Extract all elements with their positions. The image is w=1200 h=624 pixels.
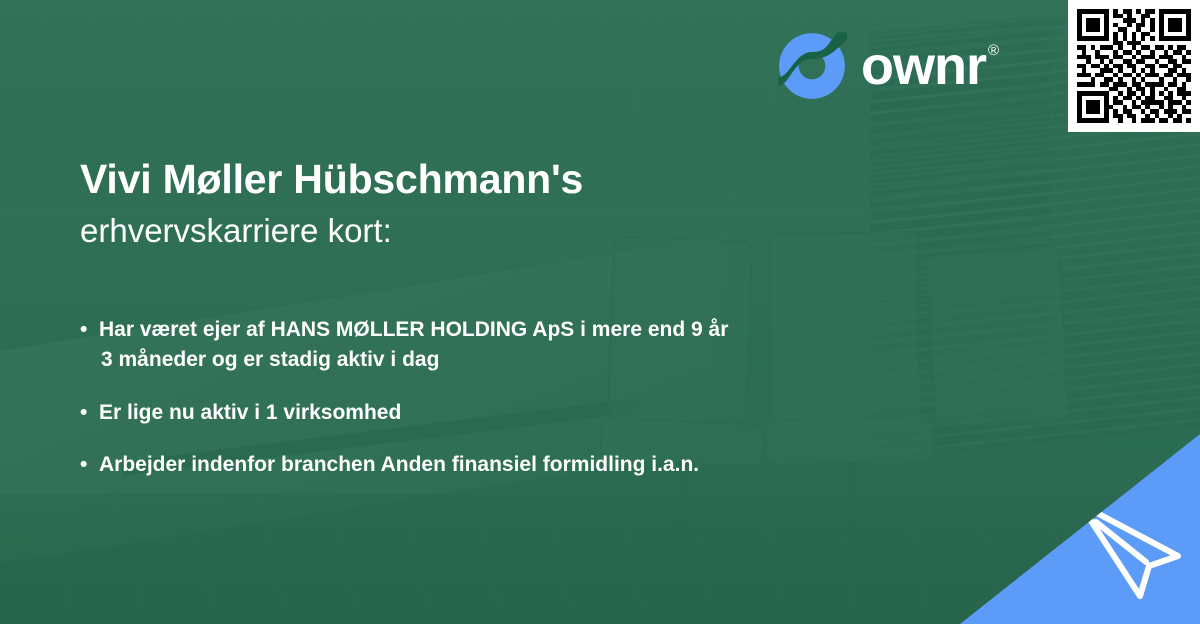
brand-logo[interactable]: ownr ® xyxy=(777,31,999,101)
career-fact-item: •Er lige nu aktiv i 1 virksomhed xyxy=(80,398,1080,428)
career-fact-text-continued: 3 måneder og er stadig aktiv i dag xyxy=(101,345,1080,375)
green-tint-overlay xyxy=(0,0,1200,624)
background-photo xyxy=(0,0,1200,624)
career-fact-text: Er lige nu aktiv i 1 virksomhed xyxy=(99,398,401,428)
bullet-dot-icon: • xyxy=(80,450,99,480)
registered-trademark-symbol: ® xyxy=(988,43,999,58)
qr-code-panel[interactable] xyxy=(1068,0,1200,132)
ownr-wordmark: ownr ® xyxy=(861,39,999,93)
career-fact-item: •Har været ejer af HANS MØLLER HOLDING A… xyxy=(80,315,1080,376)
page-title-line2: erhvervskarriere kort: xyxy=(80,212,392,250)
career-fact-text: Arbejder indenfor branchen Anden finansi… xyxy=(99,450,699,480)
promo-card: ownr ® Vivi Møller Hübschmann's erhvervs… xyxy=(0,0,1200,624)
career-fact-item: •Arbejder indenfor branchen Anden finans… xyxy=(80,450,1080,480)
bullet-dot-icon: • xyxy=(80,315,99,345)
page-title-line1: Vivi Møller Hübschmann's xyxy=(80,156,583,203)
career-fact-line: •Har været ejer af HANS MØLLER HOLDING A… xyxy=(80,315,1080,345)
ownr-wordmark-text: ownr xyxy=(861,39,986,93)
bullet-dot-icon: • xyxy=(80,398,99,428)
ownr-circle-logo-icon xyxy=(777,31,847,101)
career-fact-line: •Arbejder indenfor branchen Anden finans… xyxy=(80,450,1080,480)
career-fact-text: Har været ejer af HANS MØLLER HOLDING Ap… xyxy=(99,315,728,345)
career-fact-line: •Er lige nu aktiv i 1 virksomhed xyxy=(80,398,1080,428)
qr-code-modules xyxy=(1077,9,1191,123)
career-facts-list: •Har været ejer af HANS MØLLER HOLDING A… xyxy=(80,315,1080,503)
